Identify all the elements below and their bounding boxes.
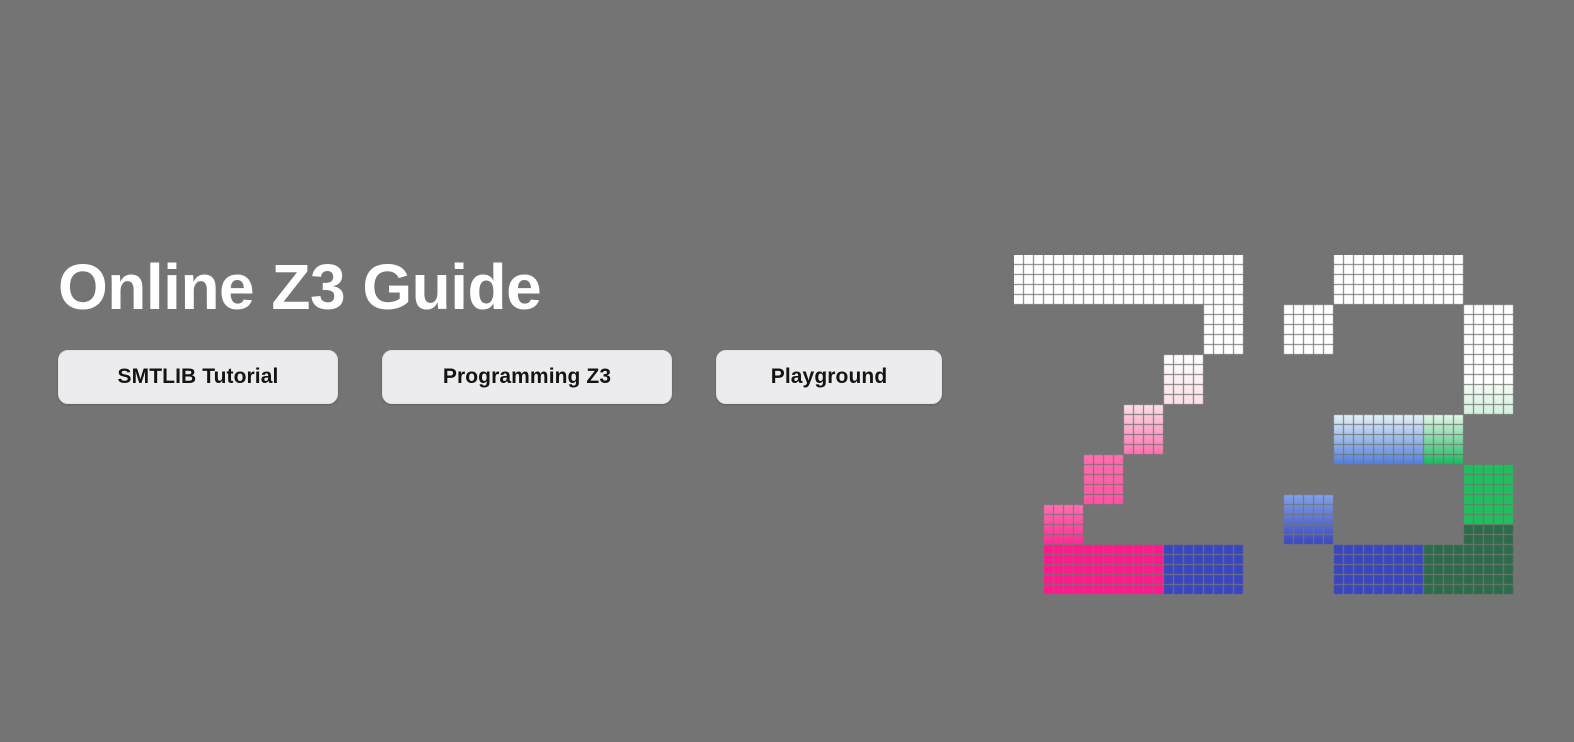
programming-z3-button-label: Programming Z3 [443, 365, 611, 389]
playground-button-label: Playground [771, 365, 888, 389]
programming-z3-button[interactable]: Programming Z3 [382, 350, 672, 404]
z3-pixel-logo-canvas [1014, 255, 1524, 595]
hero-text-column: Online Z3 Guide SMTLIB Tutorial Programm… [58, 255, 958, 404]
smtlib-tutorial-button[interactable]: SMTLIB Tutorial [58, 350, 338, 404]
page-title: Online Z3 Guide [58, 255, 958, 319]
hero-button-group: SMTLIB Tutorial Programming Z3 Playgroun… [58, 350, 958, 404]
z3-pixel-logo [1014, 255, 1524, 595]
hero-section: Online Z3 Guide SMTLIB Tutorial Programm… [0, 0, 1574, 742]
smtlib-tutorial-button-label: SMTLIB Tutorial [118, 365, 279, 389]
playground-button[interactable]: Playground [716, 350, 942, 404]
